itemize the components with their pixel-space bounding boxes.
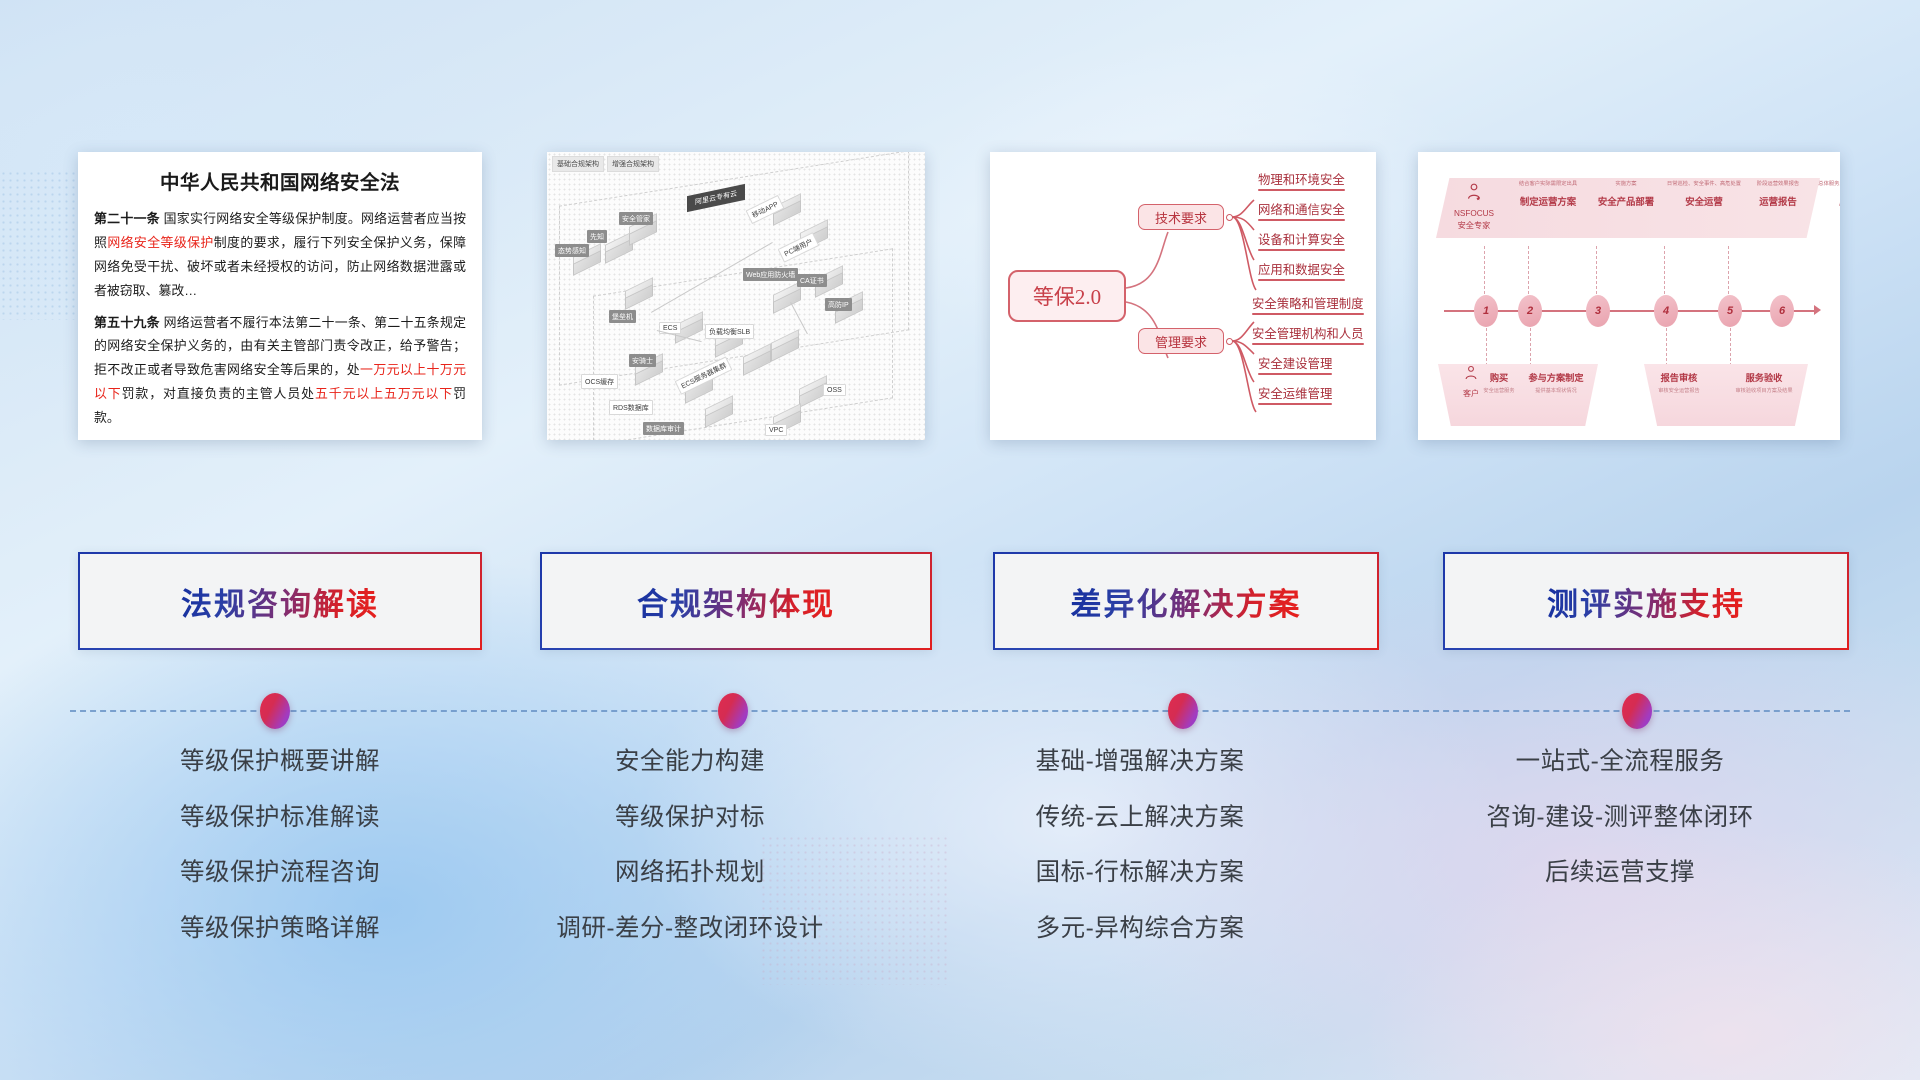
tray-step-report-review-main: 报告审核 <box>1642 370 1716 384</box>
pillar-2-item-2: 等级保护对标 <box>470 806 910 831</box>
timeline-knob-4[interactable] <box>1622 693 1652 729</box>
reference-card-row: 中华人民共和国网络安全法 第二十一条 国家实行网络安全等级保护制度。网络运营者应… <box>0 152 1920 452</box>
law-article-59-highlight-2: 五千元以上五万元以下 <box>315 386 453 401</box>
pillar-title-4: 测评实施支持 <box>1547 579 1745 624</box>
law-heading: 中华人民共和国网络安全法 <box>94 166 466 195</box>
mindmap-leaf-device-compute[interactable]: 设备和计算安全 <box>1258 230 1345 250</box>
pillar-column-4: 一站式-全流程服务 咨询-建设-测评整体闭环 后续运营支撑 <box>1380 750 1860 917</box>
architecture-node-situational-awareness: 态势感知 <box>555 244 589 257</box>
architecture-node-anti-ddos-ip: 高防IP <box>825 298 852 311</box>
pillar-title-1: 法规咨询解读 <box>181 579 379 624</box>
architecture-tab-enhanced[interactable]: 增强合规架构 <box>607 156 659 172</box>
card-cybersecurity-law[interactable]: 中华人民共和国网络安全法 第二十一条 国家实行网络安全等级保护制度。网络运营者应… <box>78 152 482 440</box>
mindmap: 等保2.0 技术要求 管理要求 物理和环境安全 网络和通信安全 设备和计算安全 … <box>990 152 1376 440</box>
law-article-21: 第二十一条 国家实行网络安全等级保护制度。网络运营者应当按照网络安全等级保护制度… <box>94 207 466 303</box>
ribbon-step-1-main: 制定运营方案 <box>1510 194 1586 208</box>
pillar-3-item-1: 基础-增强解决方案 <box>940 750 1340 775</box>
ribbon-step-1: 结合客户实际需限定出具 制定运营方案 <box>1510 182 1586 208</box>
pillar-2-item-4: 调研-差分-整改闭环设计 <box>470 917 910 942</box>
mindmap-leaf-policy-system[interactable]: 安全策略和管理制度 <box>1252 294 1364 314</box>
architecture-node-waf: Web应用防火墙 <box>743 268 798 281</box>
timeline-knob-2[interactable] <box>718 693 748 729</box>
card-nsfocus-service-timeline[interactable]: NSFOCUS 安全专家 结合客户实际需限定出具 制定运营方案 实施方案 安全产… <box>1418 152 1840 440</box>
timeline-number-4: 4 <box>1654 295 1678 327</box>
mindmap-root-node[interactable]: 等保2.0 <box>1008 270 1126 322</box>
pillar-column-3: 基础-增强解决方案 传统-云上解决方案 国标-行标解决方案 多元-异构综合方案 <box>940 750 1340 972</box>
pillar-3-item-3: 国标-行标解决方案 <box>940 861 1340 886</box>
ribbon-step-4-sub: 阶段运营效果报告 <box>1736 182 1820 188</box>
timeline-axis <box>1444 310 1816 312</box>
law-article-59-text-b: 罚款，对直接负责的主管人员处 <box>122 386 315 401</box>
ribbon-step-3: 日常巡检、安全事件、高危处置 安全运营 <box>1660 182 1748 208</box>
ribbon-step-1-sub: 结合客户实际需限定出具 <box>1510 182 1586 188</box>
slide-stage: 中华人民共和国网络安全法 第二十一条 国家实行网络安全等级保护制度。网络运营者应… <box>0 0 1920 1080</box>
pillar-box-regulation-consulting[interactable]: 法规咨询解读 <box>78 552 482 650</box>
law-body: 中华人民共和国网络安全法 第二十一条 国家实行网络安全等级保护制度。网络运营者应… <box>78 152 482 440</box>
pillar-4-item-3: 后续运营支撑 <box>1380 861 1860 886</box>
tray-step-service-acceptance-sub: 审核验收项目方案及结果 <box>1722 389 1806 395</box>
timeline-number-2: 2 <box>1518 295 1542 327</box>
pillar-1-item-3: 等级保护流程咨询 <box>60 861 500 886</box>
mindmap-leaf-app-data[interactable]: 应用和数据安全 <box>1258 260 1345 280</box>
timeline-knob-3[interactable] <box>1168 693 1198 729</box>
pillar-timeline <box>70 710 1850 712</box>
tray-step-plan: 参与方案制定 提供基本现状情况 <box>1514 370 1598 395</box>
pillar-box-compliance-architecture[interactable]: 合规架构体现 <box>540 552 932 650</box>
tray-step-report-review: 报告审核 审核安全运营报告 <box>1642 370 1716 395</box>
architecture-node-ocs-cache: OCS缓存 <box>581 374 618 389</box>
architecture-node-rds-db: RDS数据库 <box>609 400 653 415</box>
mindmap-leaf-org-personnel[interactable]: 安全管理机构和人员 <box>1252 324 1364 344</box>
architecture-node-xianzhi: 先知 <box>587 230 607 243</box>
pillar-title-2: 合规架构体现 <box>637 579 835 624</box>
ribbon-step-5-main: 服务报告 <box>1810 194 1840 208</box>
ribbon-step-5-sub: 总体服务总结报告及后续运营建议 <box>1810 182 1840 188</box>
ribbon-step-2: 实施方案 安全产品部署 <box>1588 182 1664 208</box>
law-article-59-label: 第五十九条 <box>94 315 160 330</box>
architecture-tabs: 基础合规架构 增强合规架构 <box>552 156 659 172</box>
timeline-dashed-line <box>70 710 1850 712</box>
pillar-2-item-3: 网络拓扑规划 <box>470 861 910 886</box>
nsfocus-timeline: NSFOCUS 安全专家 结合客户实际需限定出具 制定运营方案 实施方案 安全产… <box>1418 152 1840 440</box>
timeline-number-3: 3 <box>1586 295 1610 327</box>
law-article-21-label: 第二十一条 <box>94 211 160 226</box>
architecture-node-security-butler: 安全管家 <box>619 212 653 225</box>
architecture-node-bastion-host: 堡垒机 <box>609 310 636 323</box>
pillar-title-row: 法规咨询解读 合规架构体现 差异化解决方案 测评实施支持 <box>0 552 1920 660</box>
pillar-title-3: 差异化解决方案 <box>1071 579 1302 624</box>
architecture-node-db-audit: 数据库审计 <box>643 422 684 435</box>
pillar-3-item-2: 传统-云上解决方案 <box>940 806 1340 831</box>
architecture-tab-basic[interactable]: 基础合规架构 <box>552 156 604 172</box>
card-mindmap-dengbao[interactable]: 等保2.0 技术要求 管理要求 物理和环境安全 网络和通信安全 设备和计算安全 … <box>990 152 1376 440</box>
mindmap-leaf-physical-env[interactable]: 物理和环境安全 <box>1258 170 1345 190</box>
mindmap-leaf-network-comm[interactable]: 网络和通信安全 <box>1258 200 1345 220</box>
nsfocus-expert-role: 安全专家 <box>1446 221 1502 231</box>
architecture-node-oss: OSS <box>823 384 846 396</box>
pillar-1-item-2: 等级保护标准解读 <box>60 806 500 831</box>
mindmap-leaf-construction-mgmt[interactable]: 安全建设管理 <box>1258 354 1332 374</box>
expert-person-icon <box>1464 182 1484 202</box>
ribbon-step-2-sub: 实施方案 <box>1588 182 1664 188</box>
mindmap-branch-management[interactable]: 管理要求 <box>1138 328 1224 354</box>
architecture-node-slb: 负载均衡SLB <box>705 324 754 339</box>
pillar-box-differentiated-solution[interactable]: 差异化解决方案 <box>993 552 1379 650</box>
law-article-59: 第五十九条 网络运营者不履行本法第二十一条、第二十五条规定的网络安全保护义务的，… <box>94 311 466 430</box>
tray-step-service-acceptance: 服务验收 审核验收项目方案及结果 <box>1722 370 1806 395</box>
mindmap-branch-technical[interactable]: 技术要求 <box>1138 204 1224 230</box>
timeline-number-1: 1 <box>1474 295 1498 327</box>
tray-step-report-review-sub: 审核安全运营报告 <box>1642 389 1716 395</box>
architecture-node-vpc: VPC <box>765 424 787 436</box>
nsfocus-expert-block: NSFOCUS 安全专家 <box>1446 182 1502 232</box>
ribbon-step-3-sub: 日常巡检、安全事件、高危处置 <box>1660 182 1748 188</box>
ribbon-step-4-main: 运营报告 <box>1736 194 1820 208</box>
pillar-column-1: 等级保护概要讲解 等级保护标准解读 等级保护流程咨询 等级保护策略详解 <box>60 750 500 972</box>
nsfocus-brand: NSFOCUS <box>1446 209 1502 219</box>
architecture-node-ca-cert: CA证书 <box>797 274 827 287</box>
tray-step-plan-sub: 提供基本现状情况 <box>1514 389 1598 395</box>
ribbon-step-5: 总体服务总结报告及后续运营建议 服务报告 <box>1810 182 1840 208</box>
ribbon-step-3-main: 安全运营 <box>1660 194 1748 208</box>
timeline-arrow-icon <box>1814 305 1821 315</box>
pillar-1-item-4: 等级保护策略详解 <box>60 917 500 942</box>
mindmap-collapse-dot-management[interactable] <box>1226 338 1233 345</box>
pillar-4-item-1: 一站式-全流程服务 <box>1380 750 1860 775</box>
pillar-column-2: 安全能力构建 等级保护对标 网络拓扑规划 调研-差分-整改闭环设计 <box>470 750 910 972</box>
architecture-node-anqishi: 安骑士 <box>629 354 656 367</box>
pillar-box-assessment-support[interactable]: 测评实施支持 <box>1443 552 1849 650</box>
pillar-2-item-1: 安全能力构建 <box>470 750 910 775</box>
architecture-diagram: 基础合规架构 增强合规架构 阿里云专有云 <box>547 152 925 440</box>
timeline-knob-1[interactable] <box>260 693 290 729</box>
law-article-21-highlight: 网络安全等级保护 <box>107 235 213 250</box>
pillar-1-item-1: 等级保护概要讲解 <box>60 750 500 775</box>
pillar-3-item-4: 多元-异构综合方案 <box>940 917 1340 942</box>
timeline-number-6: 6 <box>1770 295 1794 327</box>
tray-step-plan-main: 参与方案制定 <box>1514 370 1598 384</box>
timeline-number-5: 5 <box>1718 295 1742 327</box>
tray-step-service-acceptance-main: 服务验收 <box>1722 370 1806 384</box>
pillar-4-item-2: 咨询-建设-测评整体闭环 <box>1380 806 1860 831</box>
mindmap-leaf-operation-mgmt[interactable]: 安全运维管理 <box>1258 384 1332 404</box>
mindmap-collapse-dot-technical[interactable] <box>1226 214 1233 221</box>
ribbon-step-4: 阶段运营效果报告 运营报告 <box>1736 182 1820 208</box>
card-compliance-architecture[interactable]: 基础合规架构 增强合规架构 阿里云专有云 <box>547 152 925 440</box>
ribbon-step-2-main: 安全产品部署 <box>1588 194 1664 208</box>
